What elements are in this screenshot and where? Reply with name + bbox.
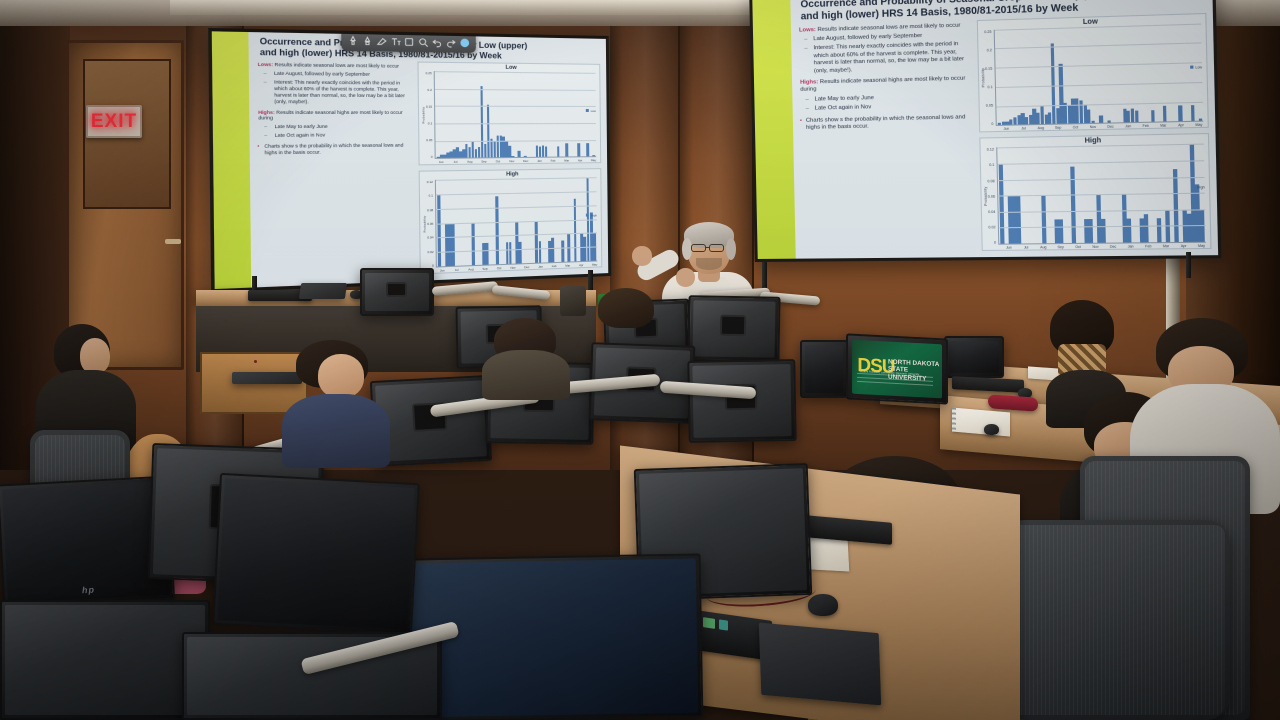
chart-bar <box>1157 218 1161 242</box>
chart-bar <box>998 123 1001 125</box>
monitor-row2-4 <box>687 359 796 443</box>
screen-support-right <box>1186 252 1191 278</box>
bullet-text: Results indicate seasonal highs are most… <box>800 76 965 94</box>
bullet-text: Results indicate seasonal highs are most… <box>258 109 402 121</box>
office-chair-foreground[interactable] <box>1000 520 1230 720</box>
monitor-back-right <box>944 336 1004 378</box>
chart-xtick: May <box>1190 123 1208 128</box>
chart-xtick: Feb <box>1137 124 1155 129</box>
bullet-keyword: Highs: <box>800 79 818 85</box>
chart-bar <box>1051 43 1056 124</box>
chart-legend: Low <box>1195 65 1202 69</box>
chart-xtick: Dec <box>1104 245 1122 249</box>
ndsu-display: DSU NORTH DAKOTA STATE UNIVERSITY Studen… <box>852 340 942 399</box>
chart-xtick: Sep <box>1052 245 1069 249</box>
chart-xtick: Mar <box>561 263 575 268</box>
exit-sign-label: EXIT <box>91 111 137 133</box>
chart-bar <box>1163 106 1167 122</box>
chart-bar <box>1091 121 1094 123</box>
more-options-icon[interactable] <box>459 37 471 49</box>
monitor-foreground-3 <box>212 473 420 635</box>
chart-xtick: Sep <box>478 266 492 271</box>
chart-high-left: High Probability 0.120.10.080.060.040.02… <box>419 168 602 274</box>
student-head <box>80 338 110 374</box>
mouse[interactable] <box>984 424 999 435</box>
monitor-front-left <box>0 600 210 720</box>
annotation-toolbar[interactable] <box>341 30 476 53</box>
monitor-podium <box>360 268 434 316</box>
chart-bar <box>574 199 577 262</box>
ndsu-divider <box>857 373 933 389</box>
hp-logo: hp <box>82 584 96 595</box>
classroom-door[interactable] <box>66 40 184 370</box>
chart-ytick: 0.12 <box>987 148 994 152</box>
chart-ytick: 0.08 <box>987 179 994 183</box>
chart-ytick: 0.15 <box>426 105 432 109</box>
podium-device <box>299 283 347 299</box>
chart-bar <box>1199 119 1203 121</box>
chart-bar <box>1041 195 1046 243</box>
chart-bar <box>1101 218 1105 242</box>
monitor-center-2 <box>687 295 780 363</box>
bullet-keyword: Lows: <box>258 62 273 68</box>
chart-ylabel: Probability <box>981 68 986 88</box>
chart-ytick: 0.2 <box>987 48 992 52</box>
chart-xtick: Nov <box>505 159 519 163</box>
bullet-keyword: Lows: <box>799 27 816 34</box>
chart-xtick: Apr <box>1172 123 1190 128</box>
chart-xtick: Dec <box>1102 125 1120 129</box>
chart-xtick: Jun <box>1000 246 1017 250</box>
chart-bar <box>557 147 560 157</box>
glasses-icon <box>691 244 706 252</box>
pen-icon[interactable] <box>347 34 359 46</box>
chart-xtick: May <box>587 158 600 162</box>
chart-bar <box>519 242 522 263</box>
laptop-closed <box>759 623 881 706</box>
student-center-back-2 <box>588 288 668 348</box>
chart-xtick: Apr <box>574 263 587 268</box>
classroom-scene: EXIT Occurrence and Probability of Seaso… <box>0 0 1280 720</box>
chart-high-right: High Probability 0.120.10.080.060.040.02… <box>979 133 1211 251</box>
chart-ytick: 0.06 <box>427 222 433 226</box>
presenter-hair-side <box>726 238 736 260</box>
chart-xtick: Dec <box>520 265 534 270</box>
chart-xtick: Jan <box>1119 124 1137 129</box>
chart-bar <box>538 242 541 263</box>
chart-bar <box>486 243 489 264</box>
student-center-profile <box>280 340 390 460</box>
chart-xtick: Jul <box>1017 245 1034 249</box>
chart-ytick: 0.04 <box>988 210 995 214</box>
student-body <box>282 394 390 468</box>
chart-xtick: Jan <box>1122 244 1140 248</box>
chart-bar <box>518 150 521 157</box>
chart-xtick: Jan <box>533 159 547 163</box>
bullet-text: Late August, followed by early September <box>274 71 414 79</box>
chart-bar <box>577 143 580 156</box>
student-hair <box>598 288 654 328</box>
chart-xtick: Oct <box>491 159 505 163</box>
projection-screen-right: Occurrence and Probability of Seasonal C… <box>749 0 1221 262</box>
mouse-foreground[interactable] <box>808 594 838 616</box>
chart-xtick: Oct <box>1069 245 1087 249</box>
student-body <box>482 350 570 400</box>
chart-bar <box>1178 106 1182 122</box>
chart-xtick: Jan <box>534 264 548 269</box>
chart-legend: High <box>591 213 597 217</box>
chart-xtick: Mar <box>1154 124 1172 129</box>
chart-xtick: Jul <box>450 268 464 273</box>
chart-ytick: 0.15 <box>985 67 992 71</box>
chart-ytick: 0.2 <box>427 88 432 92</box>
notebook <box>952 407 1010 436</box>
chart-bar <box>1016 195 1021 243</box>
chart-bar <box>1059 64 1064 124</box>
slide-accent-bar <box>752 0 795 259</box>
chart-bar <box>566 143 569 156</box>
chart-legend: Low <box>591 109 596 113</box>
ceiling-strip <box>170 0 810 15</box>
chart-xtick: Feb <box>546 159 560 163</box>
bullet-text: Charts show s the probability in which t… <box>801 114 975 133</box>
bullet-text: Interest: This nearly exactly coincides … <box>813 41 973 75</box>
slide-left: Occurrence and Probability of Seasonal C… <box>212 31 609 289</box>
chart-bar <box>509 242 512 263</box>
chart-ytick: 0.04 <box>427 236 433 240</box>
chart-bar <box>524 155 527 157</box>
chart-xtick: Feb <box>547 264 561 269</box>
chart-bar <box>438 194 442 266</box>
chart-bar <box>1099 115 1103 123</box>
chart-xtick: Aug <box>1032 126 1049 130</box>
chart-bar <box>1087 110 1091 124</box>
chart-ytick: 0.1 <box>989 163 994 167</box>
chart-ytick: 0.02 <box>427 249 433 253</box>
chart-ytick: 0.25 <box>425 71 431 75</box>
chart-ytick: 0.1 <box>428 122 433 126</box>
chart-bar <box>512 156 515 158</box>
chart-bar <box>592 155 594 157</box>
chart-xtick: Aug <box>1035 245 1052 249</box>
chart-xtick: Dec <box>519 159 533 163</box>
monitor-side <box>800 340 848 398</box>
slide-bullet-list-right: Lows: Results indicate seasonal lows are… <box>799 20 978 253</box>
chart-xtick: Aug <box>464 267 478 272</box>
chart-xtick: Nov <box>506 265 520 270</box>
bullet-text: Results indicate seasonal lows are most … <box>817 22 960 32</box>
redo-icon[interactable] <box>445 36 457 48</box>
chart-low-left: Low Probability 0.250.20.150.10.050 JunJ… <box>418 62 601 166</box>
chart-xtick: Jun <box>998 127 1015 131</box>
magnifier-icon[interactable] <box>418 36 430 48</box>
chart-bar <box>1190 105 1194 121</box>
chart-ylabel: Probability <box>422 107 426 124</box>
bullet-text: Late Oct again in Nov <box>815 102 975 113</box>
chart-ytick: 0.25 <box>984 29 991 33</box>
glasses-bridge <box>705 247 710 248</box>
bullet-text: Late Oct again in Nov <box>275 132 415 139</box>
chart-xtick: May <box>588 262 601 267</box>
chart-xtick: Apr <box>1175 244 1193 248</box>
chart-bar <box>999 164 1004 244</box>
bullet-text: Late May to early June <box>275 124 415 131</box>
chart-ytick: 0.1 <box>429 194 434 198</box>
chart-xtick: Oct <box>492 266 506 271</box>
chart-ytick: 0.06 <box>988 194 995 198</box>
student-head <box>318 354 364 398</box>
presenter-right-hand <box>676 268 695 287</box>
projection-screen-left: Occurrence and Probability of Seasonal C… <box>208 28 611 293</box>
undo-icon[interactable] <box>431 36 443 48</box>
chart-ytick: 0 <box>432 263 434 267</box>
chart-ytick: 0 <box>994 241 996 245</box>
chart-xtick: Nov <box>1087 245 1105 249</box>
chart-bar <box>1059 219 1063 243</box>
chart-bar <box>1151 110 1155 122</box>
chart-xtick: Sep <box>1049 126 1066 130</box>
chart-xtick: Mar <box>1157 244 1175 248</box>
glasses-icon <box>709 244 724 252</box>
chart-bar <box>551 238 554 263</box>
chart-bar <box>1135 111 1139 123</box>
monitor-ndsu[interactable]: DSU NORTH DAKOTA STATE UNIVERSITY Studen… <box>846 333 948 404</box>
chart-bar <box>586 143 589 156</box>
chart-ytick: 0.02 <box>988 225 995 229</box>
chart-bar <box>545 147 548 157</box>
presenter-left-hand <box>632 246 652 266</box>
chart-xtick: May <box>1193 244 1211 248</box>
chart-ytick: 0.05 <box>986 104 993 108</box>
chart-xtick: Oct <box>1067 125 1085 129</box>
chart-ytick: 0 <box>991 122 993 126</box>
chart-ylabel: Probability <box>983 187 988 206</box>
shape-tool-icon[interactable] <box>404 36 416 48</box>
chart-bar <box>1088 219 1092 243</box>
chart-xtick: Mar <box>560 159 574 163</box>
chart-bar <box>452 223 455 266</box>
student-center-back <box>480 318 570 388</box>
bullet-text: Interest: This nearly exactly coincides … <box>274 79 414 105</box>
chart-bar <box>1173 169 1178 242</box>
chart-ylabel: Probability <box>423 215 427 232</box>
chart-ytick: 0.12 <box>427 180 433 184</box>
chart-ytick: 0 <box>431 155 433 159</box>
chart-xtick: Nov <box>1084 125 1102 129</box>
chart-xtick: Jun <box>434 160 448 164</box>
chart-bar <box>1144 214 1148 242</box>
bullet-text: Charts show s the probability in which t… <box>258 142 414 156</box>
text-tool-icon[interactable] <box>389 35 401 47</box>
presenter-chin <box>696 258 722 270</box>
bullet-keyword: Highs: <box>258 109 275 114</box>
chart-xtick: Jul <box>448 160 462 164</box>
chart-xtick: Jul <box>1015 127 1032 131</box>
bullet-text: Results indicate seasonal lows are most … <box>274 62 399 69</box>
chart-bar <box>561 241 564 262</box>
highlighter-icon[interactable] <box>361 35 373 47</box>
chart-ytick: 0.1 <box>987 85 992 89</box>
av-equipment <box>560 286 586 316</box>
chart-low-right: Low Probability 0.250.20.150.10.050 JunJ… <box>977 13 1209 133</box>
chart-legend: High <box>1197 186 1205 190</box>
chart-bar <box>472 222 475 265</box>
chart-ytick: 0.05 <box>426 138 432 142</box>
chart-xtick: Apr <box>573 158 586 162</box>
exit-sign: EXIT <box>86 105 142 138</box>
eraser-icon[interactable] <box>375 35 387 47</box>
chart-ytick: 0.08 <box>427 208 433 212</box>
chart-xtick: Feb <box>1139 244 1157 248</box>
chart-bar <box>1127 218 1131 242</box>
chart-xtick: Aug <box>463 160 477 164</box>
slide-accent-bar <box>212 31 251 289</box>
chart-xtick: Jun <box>435 268 449 273</box>
slide-right: Occurrence and Probability of Seasonal C… <box>752 0 1218 259</box>
door-handle-icon[interactable] <box>165 239 181 244</box>
chart-bar <box>1107 121 1110 123</box>
slide-bullet-list-left: Lows: Results indicate seasonal lows are… <box>258 60 416 281</box>
chart-xtick: Sep <box>477 160 491 164</box>
